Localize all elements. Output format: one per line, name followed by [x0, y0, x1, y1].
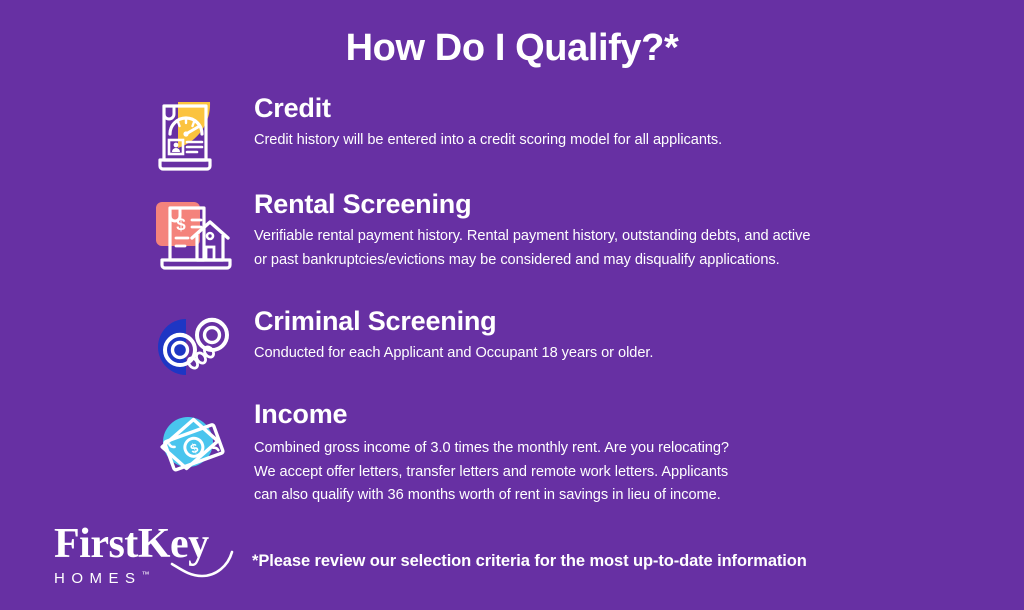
svg-text:$: $ — [176, 215, 186, 234]
section-credit: Credit Credit history will be entered in… — [148, 92, 722, 188]
section-credit-text: Credit Credit history will be entered in… — [254, 92, 722, 153]
section-criminal-description: Conducted for each Applicant and Occupan… — [254, 342, 653, 366]
section-criminal-title: Criminal Screening — [254, 307, 653, 335]
rent-receipt-house-icon: $ — [148, 188, 244, 284]
credit-report-gauge-icon — [148, 92, 244, 188]
section-criminal-text: Criminal Screening Conducted for each Ap… — [254, 303, 653, 366]
section-rental-description-line2: or past bankruptcies/evictions may be co… — [254, 249, 810, 273]
page-title: How Do I Qualify?* — [0, 27, 1024, 70]
section-criminal: Criminal Screening Conducted for each Ap… — [148, 303, 653, 399]
section-income-description-line3: can also qualify with 36 months worth of… — [254, 484, 729, 508]
section-income-description-line2: We accept offer letters, transfer letter… — [254, 461, 729, 485]
section-income-description-line1: Combined gross income of 3.0 times the m… — [254, 437, 729, 461]
section-income-text: Income Combined gross income of 3.0 time… — [254, 400, 729, 508]
section-income-title: Income — [254, 400, 729, 428]
section-rental-description-line1: Verifiable rental payment history. Renta… — [254, 225, 810, 249]
footnote: *Please review our selection criteria fo… — [252, 552, 807, 571]
section-credit-title: Credit — [254, 94, 722, 122]
infographic-page: How Do I Qualify?* — [0, 0, 1024, 610]
section-rental-text: Rental Screening Verifiable rental payme… — [254, 188, 810, 272]
handcuffs-icon — [148, 303, 244, 399]
logo-wordmark: FirstKey — [54, 524, 249, 564]
section-rental: $ Rental Screening Verifiable rental pay… — [148, 188, 810, 284]
section-income: $ Income Combined gross income of 3.0 ti… — [148, 400, 729, 508]
cash-banknotes-icon: $ — [148, 400, 244, 496]
logo-subtitle: HOMES™ — [54, 570, 249, 587]
logo-subtitle-text: HOMES — [54, 570, 142, 587]
firstkey-homes-logo: FirstKey HOMES™ — [54, 524, 249, 587]
section-credit-description: Credit history will be entered into a cr… — [254, 129, 722, 153]
section-rental-title: Rental Screening — [254, 190, 810, 218]
logo-trademark: ™ — [142, 570, 150, 579]
